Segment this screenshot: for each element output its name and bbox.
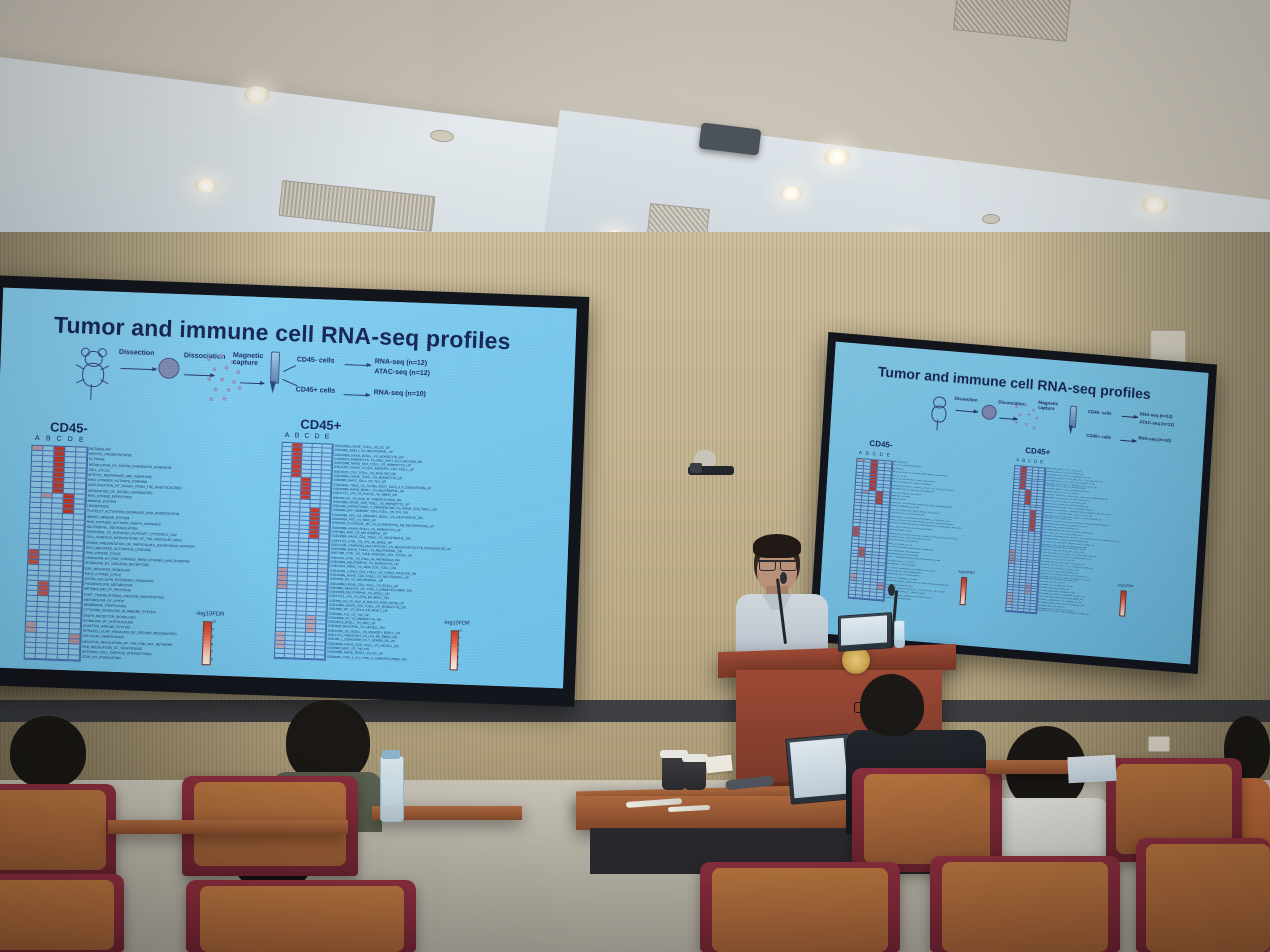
col-D: D bbox=[65, 436, 76, 443]
ceiling-downlight-3 bbox=[1142, 196, 1168, 214]
heatmap-right-title-right: CD45+ bbox=[1025, 446, 1051, 457]
ceiling-downlight-4 bbox=[195, 178, 217, 193]
audience-seat-pad-5 bbox=[864, 774, 990, 864]
workflow-step-magnetic-right: Magnetic capture bbox=[1038, 401, 1062, 412]
heatmap-left-row-labels: METABOLISMMITOTIC_PROMETAPHASEM_PHASERES… bbox=[82, 447, 198, 664]
branch-line-2 bbox=[282, 379, 297, 386]
branch-cd45-pos-label: CD45+ cells bbox=[296, 386, 336, 394]
colorbar-tick: 10 bbox=[458, 628, 462, 632]
colorbar-tick: 2 bbox=[211, 650, 213, 654]
wall-outlet bbox=[1148, 736, 1170, 752]
audience-seat-pad-9 bbox=[1146, 844, 1270, 952]
colorbar-tick: 10 bbox=[212, 619, 216, 623]
heatmap-left-rows-right: METABOLISMMITOTIC_PROMETAPHASEM_PHASERES… bbox=[885, 461, 966, 606]
workflow-arrow-r5 bbox=[1120, 440, 1136, 442]
colorbar-right-label: -log10FDR bbox=[443, 620, 470, 627]
colorbar-tick: 4 bbox=[211, 642, 213, 646]
column-tip-icon bbox=[270, 381, 276, 393]
col-D: D bbox=[312, 433, 322, 440]
heatmap-left-title-right: CD45- bbox=[869, 439, 893, 450]
coffee-cup-lid-2 bbox=[682, 754, 708, 762]
branch-cd45-pos-label-right: CD45+ cells bbox=[1086, 433, 1111, 440]
heatmap-cell bbox=[877, 597, 884, 601]
colorbar-tick: 2 bbox=[457, 656, 459, 660]
attendee-laptop-screen bbox=[790, 738, 849, 798]
water-bottle-cap bbox=[382, 750, 400, 759]
workflow-arrow-r4 bbox=[1122, 416, 1138, 418]
branch-cd45-pos-rnaseq: RNA-seq (n=10) bbox=[374, 389, 427, 398]
mic-head-left-icon bbox=[780, 572, 787, 584]
heatmap-cell bbox=[295, 654, 305, 659]
glasses-lens-right bbox=[780, 560, 797, 571]
colorbar-left-grad-right bbox=[959, 577, 967, 605]
heatmap-right-title: CD45+ bbox=[300, 417, 341, 433]
col-E: E bbox=[1038, 459, 1044, 464]
audience-head-4 bbox=[862, 676, 924, 736]
audience-head-1 bbox=[10, 716, 86, 788]
podium-bottle bbox=[894, 620, 905, 648]
col-A: A bbox=[32, 435, 43, 442]
audience-desk-left bbox=[108, 820, 348, 834]
workflow-arrow-1 bbox=[120, 368, 156, 370]
wall-trim-band bbox=[0, 700, 1270, 722]
heatmap-cell bbox=[58, 654, 69, 660]
heatmap-right-grid bbox=[274, 442, 334, 661]
col-A: A bbox=[282, 432, 292, 439]
branch-cd45-neg-rnaseq: RNA-seq (n=12) bbox=[375, 358, 428, 367]
ceiling-downlight-2 bbox=[824, 148, 850, 166]
mic-head-right-icon bbox=[888, 584, 895, 596]
glasses-lens-left bbox=[759, 560, 776, 571]
audience-seat-pad-4 bbox=[200, 886, 404, 952]
heatmap-left-cols-right: A B C D E bbox=[857, 450, 892, 458]
colorbar-left-label: -log10FDR bbox=[195, 611, 224, 618]
heatmap-cell bbox=[25, 653, 36, 659]
slide-left: Tumor and immune cell RNA-seq profiles bbox=[0, 288, 577, 689]
heatmap-left-col-headers: A B C D E bbox=[32, 435, 87, 444]
heatmap-cell bbox=[47, 654, 58, 660]
heatmap-left-grid bbox=[24, 445, 89, 662]
workflow-arrow-4 bbox=[345, 364, 371, 366]
coffee-cup-2 bbox=[684, 760, 706, 790]
slide-title-right: Tumor and immune cell RNA-seq profiles bbox=[878, 363, 1152, 402]
branch-cd45-neg-label: CD45- cells bbox=[297, 356, 335, 364]
colorbar-tick: 0 bbox=[211, 657, 213, 661]
branch-cd45-neg-atacseq: ATAC-seq (n=12) bbox=[374, 368, 430, 377]
heatmap-cell bbox=[1030, 609, 1036, 612]
branch-cd45-neg-atacseq-right: ATAC-seq (n=12) bbox=[1139, 419, 1174, 427]
col-B: B bbox=[43, 435, 54, 442]
workflow-diagram: Dissection Dissociation Magnetic capture bbox=[0, 288, 577, 439]
workflow-step-dissection: Dissection bbox=[119, 349, 155, 357]
colorbar-left-label-right: -log10FDR bbox=[957, 570, 975, 575]
tumor-blob-icon bbox=[158, 357, 180, 379]
heatmap-right-rows-right: GSE22886_NAIVE_TCELL_VS_DC_UPGSE3982_BCE… bbox=[1037, 468, 1124, 620]
projection-screen-left-frame: Tumor and immune cell RNA-seq profiles bbox=[0, 275, 589, 707]
branch-cd45-pos-rnaseq-right: RNA-seq (n=10) bbox=[1138, 435, 1171, 443]
colorbar-tick: 6 bbox=[212, 635, 214, 639]
water-bottle bbox=[380, 756, 404, 822]
heatmap-cell bbox=[285, 654, 295, 659]
colorbar-tick: 8 bbox=[212, 627, 214, 631]
workflow-step-magnetic-capture: Magnetic capture bbox=[233, 352, 268, 368]
heatmap-cell bbox=[275, 653, 285, 658]
heatmap-left-title: CD45- bbox=[50, 419, 88, 435]
branch-cd45-neg-rnaseq-right: RNA-seq (n=12) bbox=[1140, 411, 1173, 419]
col-C: C bbox=[302, 433, 312, 440]
branch-line-1 bbox=[283, 365, 296, 372]
table-paper-card bbox=[705, 755, 733, 774]
col-E: E bbox=[76, 436, 87, 443]
heatmap-cell bbox=[69, 655, 80, 661]
projection-screen-left: Tumor and immune cell RNA-seq profiles bbox=[0, 288, 577, 689]
colorbar-tick: 0 bbox=[457, 662, 459, 666]
heatmap-cell bbox=[36, 654, 47, 660]
colorbar-right-label-right: -log10FDR bbox=[1117, 583, 1134, 588]
colorbar-right-grad-right bbox=[1119, 590, 1127, 616]
audience-laptop-right bbox=[1067, 755, 1116, 783]
col-E: E bbox=[322, 433, 332, 440]
ceiling-downlight-5 bbox=[780, 186, 802, 201]
workflow-arrow-5 bbox=[344, 394, 370, 396]
tumor-blob-icon-right bbox=[981, 404, 997, 420]
audience-seat-pad-7 bbox=[712, 868, 888, 952]
audience-seat-pad-8 bbox=[942, 862, 1108, 952]
heatmap-right-row-labels: GSE22886_NAIVE_TCELL_VS_DC_UPGSE3982_BCE… bbox=[327, 444, 455, 663]
branch-cd45-neg-label-right: CD45- cells bbox=[1088, 409, 1112, 416]
col-B: B bbox=[292, 432, 302, 439]
audience-seat-pad-3 bbox=[0, 880, 114, 950]
column-tip-icon-right bbox=[1068, 425, 1073, 434]
magnetic-column-icon bbox=[270, 351, 280, 383]
col-E: E bbox=[885, 452, 892, 458]
heatmap-cell bbox=[315, 655, 325, 660]
colorbar-tick: 4 bbox=[457, 649, 459, 653]
ceiling-downlight-1 bbox=[244, 86, 270, 104]
heatmap-cell bbox=[305, 654, 315, 659]
workflow-arrow-r1 bbox=[956, 410, 978, 413]
heatmap-right-col-headers: A B C D E bbox=[282, 432, 332, 441]
colorbar-tick: 8 bbox=[458, 635, 460, 639]
conference-room-photo: CD45 Tumor and immune cell RNA-seq profi… bbox=[0, 0, 1270, 952]
heatmap-right-cols-right: A B C D E bbox=[1015, 457, 1045, 465]
colorbar-tick: 6 bbox=[457, 642, 459, 646]
presenter-hair bbox=[753, 534, 801, 558]
podium-laptop-screen bbox=[841, 615, 887, 645]
audience-seat-pad-1 bbox=[0, 790, 106, 870]
col-C: C bbox=[54, 436, 65, 443]
smoke-detector-icon bbox=[982, 214, 1000, 224]
workflow-step-dissection-right: Dissection bbox=[954, 396, 977, 403]
